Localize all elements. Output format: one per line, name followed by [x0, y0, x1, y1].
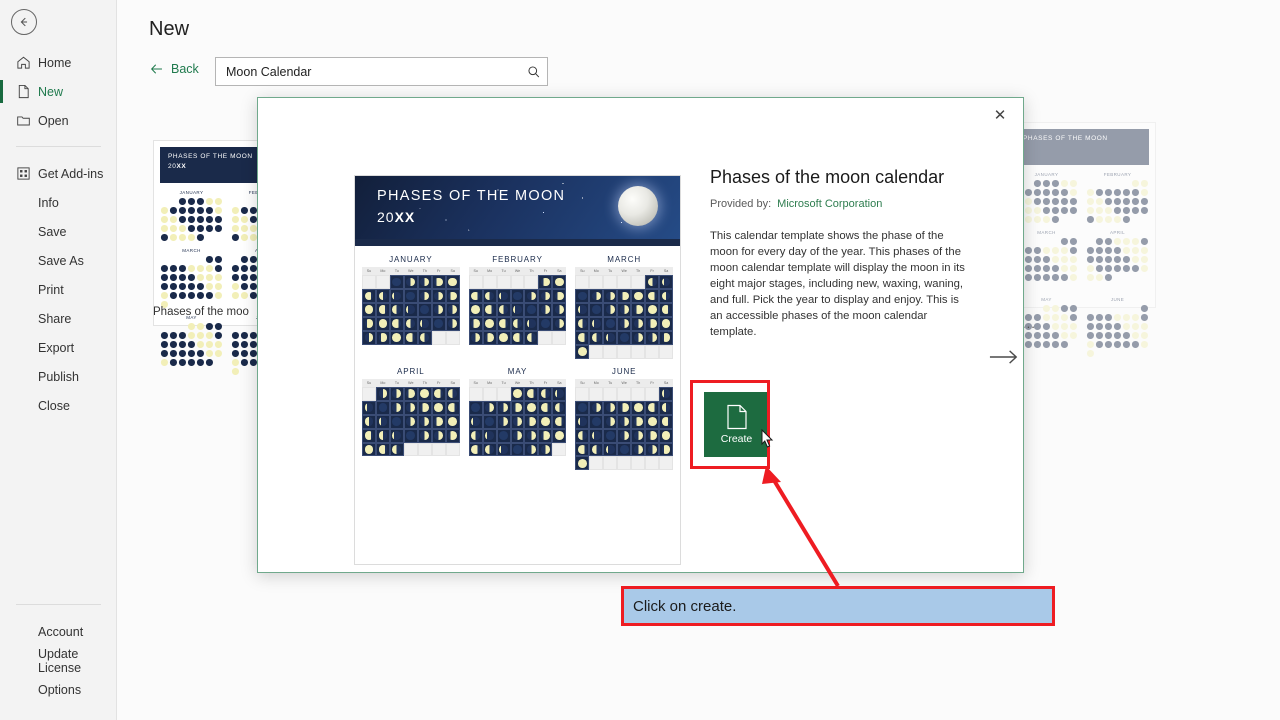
thumbnail-day-cell [1034, 256, 1041, 263]
preview-day-cell [603, 443, 617, 457]
thumbnail-day-cell [1123, 323, 1130, 330]
sidebar-item-label: Save As [38, 254, 84, 268]
preview-month-row: JANUARYSuMoTuWeThFrSaFEBRUARYSuMoTuWeThF… [362, 251, 673, 359]
moon-phase-icon [662, 445, 671, 454]
thumbnail-day-cell [170, 265, 177, 272]
preview-day-cell [631, 289, 645, 303]
thumbnail-day-cell [1114, 265, 1121, 272]
thumbnail-day-cell [197, 332, 204, 339]
preview-day-cell [631, 387, 645, 401]
preview-day-cell [552, 317, 566, 331]
thumbnail-day-grid [160, 255, 223, 309]
thumbnail-day-cell [161, 216, 168, 223]
back-button[interactable] [11, 9, 37, 35]
thumbnail-day-cell [179, 234, 186, 241]
thumbnail-day-cell [1087, 180, 1094, 187]
moon-phase-icon [471, 292, 480, 301]
moon-phase-icon [365, 445, 374, 454]
search-box[interactable] [215, 57, 548, 86]
preview-day-cell [483, 317, 497, 331]
moon-phase-icon [578, 333, 587, 342]
page-title: New [149, 18, 189, 41]
thumbnail-day-cell [215, 265, 222, 272]
thumbnail-day-cell [206, 292, 213, 299]
thumbnail-day-cell [1141, 238, 1148, 245]
preview-weekday: Fr [538, 379, 552, 387]
sidebar-item-home[interactable]: Home [0, 48, 117, 77]
thumbnail-day-cell [1132, 198, 1139, 205]
moon-phase-icon [471, 305, 480, 314]
thumbnail-day-cell [1114, 350, 1121, 357]
preview-day-cell [446, 415, 460, 429]
thumbnail-day-cell [206, 323, 213, 330]
thumbnail-day-cell [1025, 283, 1032, 290]
preview-month-name: APRIL [362, 363, 460, 379]
preview-day-cell [469, 429, 483, 443]
moon-phase-icon [555, 431, 564, 440]
preview-day-cell [659, 331, 673, 345]
thumbnail-day-cell [161, 274, 168, 281]
thumbnail-day-cell [161, 323, 168, 330]
preview-day-cell [446, 443, 460, 457]
create-button-wrapper: Create [704, 392, 769, 457]
preview-day-cell [552, 275, 566, 289]
thumbnail-day-cell [1141, 274, 1148, 281]
thumbnail-day-cell [161, 265, 168, 272]
thumbnail-day-cell [188, 274, 195, 281]
thumbnail-day-cell [1096, 247, 1103, 254]
thumbnail-day-cell [1114, 180, 1121, 187]
template-thumbnail-secondary: PHASES OF THE MOON JANUARYFEBRUARYMARCHA… [1009, 123, 1155, 307]
thumbnail-day-cell [215, 274, 222, 281]
moon-phase-icon [448, 278, 457, 287]
preview-day-cell [617, 429, 631, 443]
thumbnail-day-cell [232, 368, 239, 375]
moon-phase-icon [434, 417, 443, 426]
thumbnail-day-cell [1025, 265, 1032, 272]
preview-weekday: Fr [645, 267, 659, 275]
preview-day-cell [524, 303, 538, 317]
preview-day-cell [524, 317, 538, 331]
thumbnail-day-cell [1105, 265, 1112, 272]
sidebar-item-label: Save [38, 225, 67, 239]
preview-day-cell [469, 443, 483, 457]
moon-phase-icon [606, 431, 615, 440]
thumbnail-day-cell [1070, 256, 1077, 263]
moon-phase-icon [365, 319, 374, 328]
thumbnail-day-cell [170, 225, 177, 232]
thumbnail-day-cell [1114, 314, 1121, 321]
thumbnail-day-cell [161, 234, 168, 241]
preview-day-cell [446, 317, 460, 331]
thumbnail-day-cell [179, 332, 186, 339]
preview-month: MARCHSuMoTuWeThFrSa [575, 251, 673, 359]
thumbnail-day-cell [215, 359, 222, 366]
thumbnail-day-cell [250, 225, 257, 232]
moon-phase-icon [406, 305, 415, 314]
preview-month: JANUARYSuMoTuWeThFrSa [362, 251, 460, 359]
thumbnail-day-cell [1132, 314, 1139, 321]
sidebar-item-export[interactable]: Export [0, 333, 117, 362]
preview-day-cell [538, 275, 552, 289]
thumbnail-month: JUNE [1086, 297, 1149, 358]
moon-phase-icon [592, 445, 601, 454]
preview-header: PHASES OF THE MOON 20XX [355, 176, 680, 239]
preview-weekday: Mo [589, 267, 603, 275]
preview-day-cell [483, 415, 497, 429]
moon-phase-icon [606, 333, 615, 342]
arrow-left-icon [150, 63, 164, 75]
thumbnail-day-cell [179, 256, 186, 263]
thumbnail-day-cell [1070, 332, 1077, 339]
moon-phase-icon [420, 333, 429, 342]
search-input[interactable] [216, 65, 521, 79]
moon-phase-icon [648, 278, 657, 287]
preview-day-cell [362, 415, 376, 429]
thumbnail-day-cell [1061, 283, 1068, 290]
home-icon [16, 55, 38, 70]
preview-day-cell [538, 331, 552, 345]
thumbnail-day-cell [215, 234, 222, 241]
moon-phase-icon [392, 278, 401, 287]
thumbnail-day-cell [170, 332, 177, 339]
thumbnail-day-cell [1132, 350, 1139, 357]
preview-day-cell [631, 443, 645, 457]
moon-phase-icon [555, 305, 564, 314]
preview-day-cell [589, 331, 603, 345]
thumbnail-day-cell [1034, 216, 1041, 223]
preview-weekday-row: SuMoTuWeThFrSa [362, 379, 460, 387]
app-window: Home New Open Get Add-ins [0, 0, 1280, 720]
thumbnail-day-cell [1070, 207, 1077, 214]
thumbnail-day-cell [1025, 341, 1032, 348]
moon-phase-icon [434, 319, 443, 328]
provider-link[interactable]: Microsoft Corporation [777, 198, 882, 210]
preview-day-cell [483, 289, 497, 303]
preview-day-cell [390, 401, 404, 415]
template-preview-dialog: ✕ PHASES OF THE MOON 20XX JANUARYSuMoTuW… [257, 97, 1024, 573]
thumbnail-day-cell [1087, 305, 1094, 312]
create-button[interactable]: Create [704, 392, 769, 457]
thumbnail-day-cell [215, 256, 222, 263]
moon-phase-icon [420, 292, 429, 301]
preview-weekday: Mo [589, 379, 603, 387]
preview-day-cell [469, 303, 483, 317]
preview-day-cell [538, 401, 552, 415]
thumbnail-day-cell [1096, 274, 1103, 281]
thumbnail-day-cell [1052, 265, 1059, 272]
thumbnail-day-cell [188, 292, 195, 299]
preview-day-cell [645, 429, 659, 443]
sidebar-item-options[interactable]: Options [0, 675, 117, 704]
thumbnail-month: MAY [160, 315, 223, 376]
thumbnail-day-cell [197, 265, 204, 272]
moon-phase-icon [541, 445, 550, 454]
sidebar-item-info[interactable]: Info [0, 188, 117, 217]
sidebar-item-share[interactable]: Share [0, 304, 117, 333]
preview-weekday: We [404, 379, 418, 387]
preview-day-cell [524, 387, 538, 401]
preview-day-cell [469, 331, 483, 345]
thumbnail-day-cell [1061, 323, 1068, 330]
thumbnail-day-cell [188, 341, 195, 348]
moon-phase-icon [485, 417, 494, 426]
moon-phase-icon [648, 431, 657, 440]
thumbnail-day-cell [241, 207, 248, 214]
moon-phase-icon [527, 319, 536, 328]
thumbnail-day-cell [1052, 216, 1059, 223]
folder-icon [16, 113, 38, 128]
search-icon[interactable] [521, 65, 547, 79]
preview-day-cell [404, 303, 418, 317]
moon-phase-icon [592, 417, 601, 426]
preview-weekday: Th [631, 267, 645, 275]
preview-day-cell [575, 456, 589, 470]
instruction-callout: Click on create. [621, 586, 1055, 626]
thumbnail-day-cell [197, 225, 204, 232]
thumbnail-day-cell [1052, 323, 1059, 330]
preview-weekday: Fr [538, 267, 552, 275]
moon-phase-icon [392, 445, 401, 454]
preview-day-cell [575, 345, 589, 359]
moon-phase-icon [541, 417, 550, 426]
thumbnail-day-cell [1141, 314, 1148, 321]
preview-weekday-row: SuMoTuWeThFrSa [469, 379, 567, 387]
thumbnail-day-cell [1043, 247, 1050, 254]
instruction-callout-text: Click on create. [633, 598, 736, 615]
moon-phase-icon [662, 305, 671, 314]
moon-phase-icon [392, 403, 401, 412]
thumbnail-day-cell [241, 292, 248, 299]
preview-day-cell [511, 303, 525, 317]
thumbnail-day-cell [241, 274, 248, 281]
sidebar-item-save[interactable]: Save [0, 217, 117, 246]
thumbnail-day-cell [1025, 256, 1032, 263]
thumbnail-day-cell [1034, 283, 1041, 290]
preview-day-cell [404, 443, 418, 457]
preview-day-cell [511, 443, 525, 457]
thumbnail-day-cell [1052, 283, 1059, 290]
preview-day-cell [645, 331, 659, 345]
thumbnail-day-cell [250, 359, 257, 366]
moon-phase-icon [662, 431, 671, 440]
preview-day-cell [589, 429, 603, 443]
thumbnail-day-cell [1025, 189, 1032, 196]
thumbnail-day-cell [1096, 256, 1103, 263]
preview-day-cell [589, 415, 603, 429]
moon-phase-icon [592, 292, 601, 301]
preview-month: APRILSuMoTuWeThFrSa [362, 363, 460, 471]
preview-day-cell [390, 331, 404, 345]
moon-phase-icon [634, 417, 643, 426]
sidebar-item-label: Home [38, 56, 71, 70]
close-icon[interactable]: ✕ [985, 102, 1015, 128]
thumbnail-day-cell [1052, 180, 1059, 187]
preview-day-cell [390, 317, 404, 331]
thumbnail-day-cell [215, 283, 222, 290]
preview-day-cell [603, 289, 617, 303]
preview-weekday: Mo [483, 267, 497, 275]
preview-month: JUNESuMoTuWeThFrSa [575, 363, 673, 471]
thumbnail-day-cell [232, 332, 239, 339]
thumbnail-day-cell [179, 323, 186, 330]
preview-day-cell [538, 289, 552, 303]
moon-phase-icon [527, 389, 536, 398]
sidebar-item-print[interactable]: Print [0, 275, 117, 304]
preview-day-cell [418, 275, 432, 289]
thumbnail-month-name: FEBRUARY [1086, 172, 1149, 177]
thumbnail-day-cell [1087, 350, 1094, 357]
thumbnail-day-cell [188, 283, 195, 290]
sidebar-item-update-license[interactable]: Update License [0, 646, 117, 675]
preview-day-cell [617, 275, 631, 289]
moon-phase-icon [662, 292, 671, 301]
thumbnail-day-cell [215, 323, 222, 330]
preview-day-cell [552, 415, 566, 429]
thumbnail-day-cell [197, 234, 204, 241]
preview-day-cell [645, 443, 659, 457]
preview-day-cell [432, 415, 446, 429]
thumbnail-day-cell [1087, 189, 1094, 196]
preview-day-cell [446, 275, 460, 289]
thumbnail-day-cell [1114, 247, 1121, 254]
preview-day-cell [418, 443, 432, 457]
sidebar-item-save-as[interactable]: Save As [0, 246, 117, 275]
moon-phase-icon [420, 319, 429, 328]
preview-day-cell [404, 387, 418, 401]
thumbnail-day-cell [215, 198, 222, 205]
preview-weekday-row: SuMoTuWeThFrSa [469, 267, 567, 275]
thumbnail-day-cell [1043, 265, 1050, 272]
thumbnail-day-cell [1114, 198, 1121, 205]
sidebar-item-new[interactable]: New [0, 77, 117, 106]
sidebar-item-label: Export [38, 341, 74, 355]
preview-weekday: Tu [497, 379, 511, 387]
preview-weekday: Th [524, 267, 538, 275]
moon-phase-icon [527, 333, 536, 342]
thumbnail-day-cell [232, 265, 239, 272]
preview-day-cell [469, 401, 483, 415]
moon-phase-icon [471, 333, 480, 342]
thumbnail-day-cell [1070, 189, 1077, 196]
preview-day-cell [575, 401, 589, 415]
thumbnail-day-cell [161, 341, 168, 348]
preview-day-cell [617, 331, 631, 345]
sidebar-item-publish[interactable]: Publish [0, 362, 117, 391]
thumbnail-day-cell [1141, 305, 1148, 312]
moon-phase-icon [365, 431, 374, 440]
thumbnail-day-cell [232, 225, 239, 232]
moon-phase-icon [541, 305, 550, 314]
moon-phase-icon [499, 292, 508, 301]
thumbnail-day-cell [1025, 274, 1032, 281]
moon-phase-icon [499, 403, 508, 412]
thumbnail-day-cell [250, 265, 257, 272]
moon-phase-icon [648, 319, 657, 328]
moon-phase-icon [606, 445, 615, 454]
moon-phase-icon [578, 459, 587, 468]
preview-day-cell [432, 303, 446, 317]
thumbnail-day-cell [206, 359, 213, 366]
thumbnail-day-cell [250, 341, 257, 348]
preview-day-cell [552, 289, 566, 303]
preview-weekday: Tu [603, 267, 617, 275]
moon-phase-icon [434, 305, 443, 314]
thumbnail-day-cell [1034, 265, 1041, 272]
thumbnail-day-cell [179, 265, 186, 272]
thumbnail-day-cell [197, 292, 204, 299]
preview-day-cell [603, 456, 617, 470]
thumbnail-day-cell [1132, 216, 1139, 223]
thumbnail-day-cell [1025, 332, 1032, 339]
moon-phase-icon [541, 389, 550, 398]
preview-weekday: Th [418, 267, 432, 275]
moon-phase-icon [578, 305, 587, 314]
preview-weekday: Tu [390, 379, 404, 387]
thumbnail-day-cell [197, 256, 204, 263]
sidebar-item-label: Options [38, 683, 81, 697]
thumbnail-day-cell [250, 198, 257, 205]
back-link[interactable]: Back [150, 62, 199, 76]
preview-weekday: Su [362, 267, 376, 275]
template-card-secondary[interactable]: PHASES OF THE MOON JANUARYFEBRUARYMARCHA… [1008, 122, 1156, 308]
thumbnail-day-cell [1061, 198, 1068, 205]
thumbnail-day-grid [1086, 237, 1149, 282]
moon-phase-icon [555, 403, 564, 412]
arrow-right-icon[interactable] [986, 342, 1022, 372]
thumbnail-day-cell [1132, 341, 1139, 348]
moon-phase-icon [513, 445, 522, 454]
thumbnail-day-cell [1052, 189, 1059, 196]
preview-day-cell [432, 331, 446, 345]
thumbnail-day-cell [1123, 207, 1130, 214]
preview-day-cell [497, 331, 511, 345]
sidebar-item-close[interactable]: Close [0, 391, 117, 420]
moon-phase-icon [379, 417, 388, 426]
moon-phase-icon [555, 278, 564, 287]
thumbnail-day-cell [1141, 323, 1148, 330]
preview-weekday: Sa [552, 267, 566, 275]
preview-day-cell [446, 387, 460, 401]
preview-weekday-row: SuMoTuWeThFrSa [575, 267, 673, 275]
template-card-more-icon[interactable]: ... [1022, 316, 1036, 331]
thumbnail-day-cell [1070, 323, 1077, 330]
thumbnail-day-cell [1034, 332, 1041, 339]
thumbnail-day-cell [1141, 216, 1148, 223]
preview-day-cell [552, 387, 566, 401]
sidebar-item-account[interactable]: Account [0, 617, 117, 646]
thumbnail-day-cell [1096, 314, 1103, 321]
thumbnail-day-cell [1132, 256, 1139, 263]
thumbnail-day-cell [206, 350, 213, 357]
sidebar-item-get-addins[interactable]: Get Add-ins [0, 159, 117, 188]
sidebar-item-open[interactable]: Open [0, 106, 117, 135]
moon-phase-icon [541, 278, 550, 287]
moon-phase-icon [592, 431, 601, 440]
moon-phase-icon [606, 403, 615, 412]
moon-phase-icon [406, 403, 415, 412]
thumbnail-day-grid [1015, 237, 1078, 291]
thumbnail-day-cell [161, 332, 168, 339]
preview-day-cell [538, 303, 552, 317]
thumbnail-month-name: JANUARY [160, 190, 223, 195]
thumbnail-day-grid [160, 322, 223, 367]
preview-day-cell [446, 289, 460, 303]
preview-weekday: Sa [659, 267, 673, 275]
thumbnail-day-cell [1070, 198, 1077, 205]
thumbnail-day-cell [1052, 314, 1059, 321]
preview-day-cell [390, 289, 404, 303]
